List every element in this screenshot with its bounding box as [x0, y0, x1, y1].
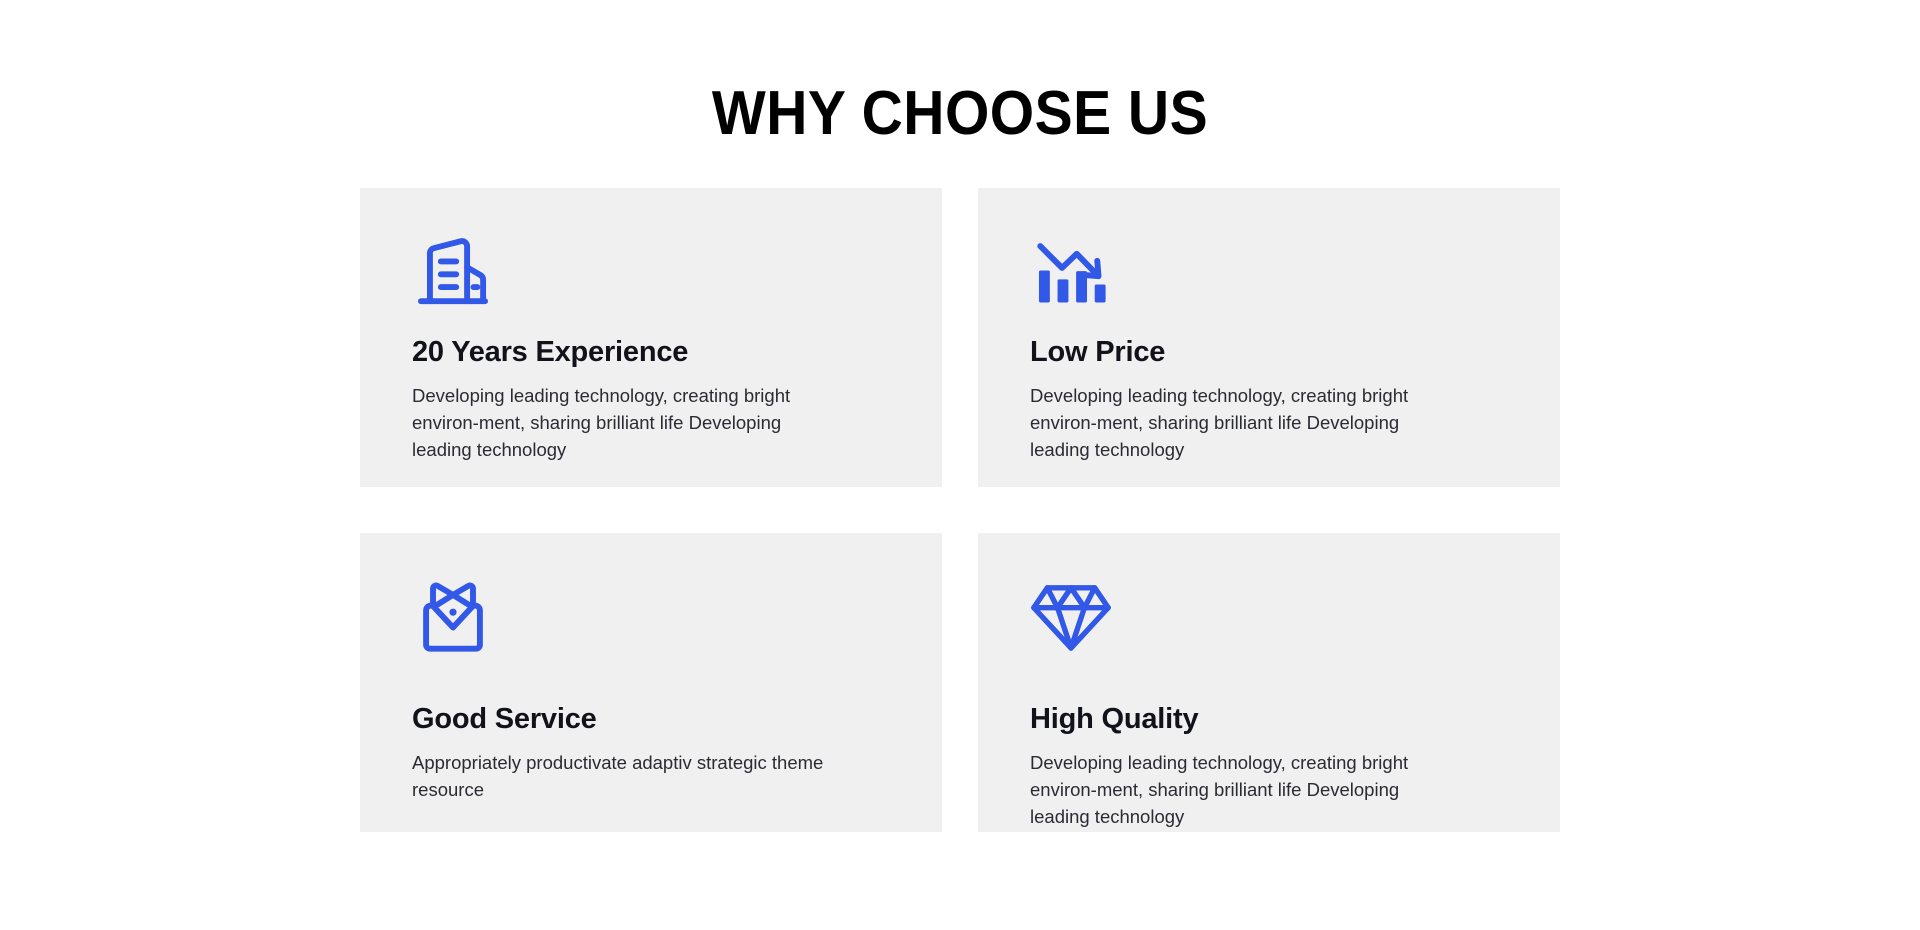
- card-title: Low Price: [1030, 334, 1508, 370]
- why-choose-us-section: WHY CHOOSE US 20 Years Experience Develo…: [0, 0, 1920, 930]
- card-body-text: Developing leading technology, creating …: [1030, 749, 1450, 830]
- tuxedo-bowtie-icon: [412, 575, 494, 657]
- diamond-gem-icon: [1030, 575, 1112, 657]
- card-title: Good Service: [412, 701, 890, 737]
- feature-card-low-price[interactable]: Low Price Developing leading technology,…: [978, 188, 1560, 487]
- feature-card-good-service[interactable]: Good Service Appropriately productivate …: [360, 533, 942, 832]
- page-title: WHY CHOOSE US: [77, 78, 1843, 150]
- card-title: 20 Years Experience: [412, 334, 890, 370]
- card-body-text: Appropriately productivate adaptiv strat…: [412, 749, 832, 803]
- card-body-text: Developing leading technology, creating …: [412, 382, 832, 463]
- declining-bar-chart-icon: [1030, 232, 1112, 314]
- card-title: High Quality: [1030, 701, 1508, 737]
- feature-card-high-quality[interactable]: High Quality Developing leading technolo…: [978, 533, 1560, 832]
- feature-card-grid: 20 Years Experience Developing leading t…: [360, 188, 1560, 832]
- office-building-icon: [412, 232, 494, 314]
- card-body-text: Developing leading technology, creating …: [1030, 382, 1450, 463]
- feature-card-20-years-experience[interactable]: 20 Years Experience Developing leading t…: [360, 188, 942, 487]
